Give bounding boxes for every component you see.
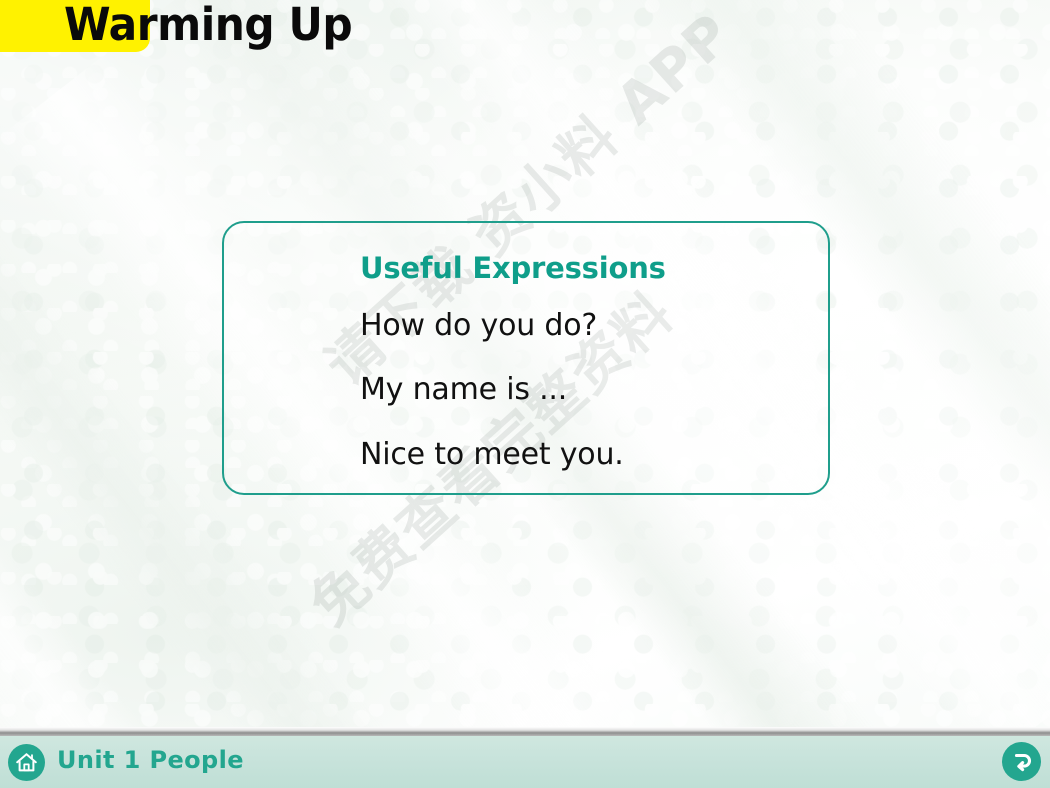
home-icon xyxy=(15,752,38,773)
card-content: Useful Expressions How do you do? My nam… xyxy=(360,253,812,472)
return-arrow-icon xyxy=(1010,750,1034,774)
useful-expressions-card: Useful Expressions How do you do? My nam… xyxy=(222,221,830,495)
expression-line-2: My name is ... xyxy=(360,373,812,407)
page-title: Warming Up xyxy=(64,0,352,47)
footer-bar: Unit 1 People xyxy=(0,736,1050,788)
expression-line-3: Nice to meet you. xyxy=(360,438,812,472)
home-button[interactable] xyxy=(8,744,45,781)
back-button[interactable] xyxy=(1002,742,1041,781)
expression-line-1: How do you do? xyxy=(360,309,812,343)
slide-canvas: 免费查看完整资料 请下载 资小料 APP Warming Up Useful E… xyxy=(0,0,1050,788)
footer-divider xyxy=(0,727,1050,736)
card-heading: Useful Expressions xyxy=(360,253,812,285)
unit-label: Unit 1 People xyxy=(57,747,244,773)
